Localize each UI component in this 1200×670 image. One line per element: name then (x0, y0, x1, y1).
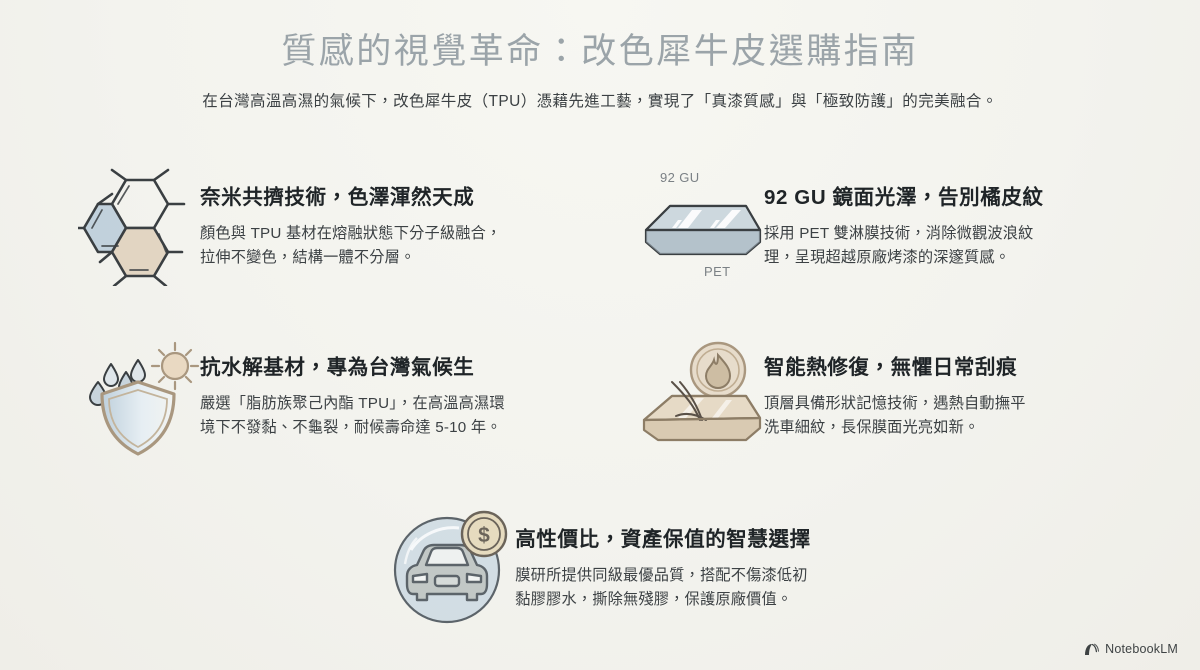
feature-card-gloss: 92 GU (600, 168, 1200, 338)
gloss-value-label: 92 GU (660, 170, 700, 185)
molecule-icon (78, 168, 200, 286)
feature-text: 智能熱修復，無懼日常刮痕 頂層具備形狀記憶技術，遇熱自動撫平 洗車細紋，長保膜面… (764, 338, 1026, 441)
header: 質感的視覺革命：改色犀牛皮選購指南 在台灣高溫高濕的氣候下，改色犀牛皮（TPU）… (0, 0, 1200, 113)
feature-body: 嚴選「脂肪族聚己內酯 TPU」，在高溫高濕環 境下不發黏、不龜裂，耐候壽命達 5… (200, 392, 505, 441)
feature-title: 高性價比，資產保值的智慧選擇 (515, 528, 810, 553)
feature-body: 頂層具備形狀記憶技術，遇熱自動撫平 洗車細紋，長保膜面光亮如新。 (764, 392, 1026, 441)
feature-text: 抗水解基材，專為台灣氣候生 嚴選「脂肪族聚己內酯 TPU」，在高溫高濕環 境下不… (200, 338, 505, 441)
page-title: 質感的視覺革命：改色犀牛皮選購指南 (0, 30, 1200, 74)
feature-body: 膜研所提供同級最優品質，搭配不傷漆低初 黏膠膠水，撕除無殘膠，保護原廠價值。 (515, 564, 810, 613)
infographic-poster: 質感的視覺革命：改色犀牛皮選購指南 在台灣高溫高濕的氣候下，改色犀牛皮（TPU）… (0, 0, 1200, 670)
feature-title: 智能熱修復，無懼日常刮痕 (764, 356, 1026, 381)
feature-card-hydrolysis: 抗水解基材，專為台灣氣候生 嚴選「脂肪族聚己內酯 TPU」，在高溫高濕環 境下不… (0, 338, 600, 503)
shield-water-sun-icon (78, 338, 200, 456)
page-subtitle: 在台灣高溫高濕的氣候下，改色犀牛皮（TPU）憑藉先進工藝，實現了「真漆質感」與「… (0, 90, 1200, 113)
feature-text: 92 GU 鏡面光澤，告別橘皮紋 採用 PET 雙淋膜技術，消除微觀波浪紋 理，… (764, 168, 1044, 271)
flame-slab-icon (642, 338, 764, 456)
feature-title: 奈米共擠技術，色澤渾然天成 (200, 186, 501, 211)
pet-label: PET (704, 264, 730, 279)
feature-body: 採用 PET 雙淋膜技術，消除微觀波浪紋 理，呈現超越原廠烤漆的深邃質感。 (764, 222, 1044, 271)
feature-title: 92 GU 鏡面光澤，告別橘皮紋 (764, 186, 1044, 211)
feature-text: 高性價比，資產保值的智慧選擇 膜研所提供同級最優品質，搭配不傷漆低初 黏膠膠水，… (515, 508, 810, 613)
notebooklm-watermark: NotebookLM (1084, 642, 1178, 656)
feature-title: 抗水解基材，專為台灣氣候生 (200, 356, 505, 381)
feature-card-value: $ 高性價比，資產保值的智慧選擇 膜研所提供同級最優品質，搭配不傷漆低初 黏膠膠… (389, 508, 810, 628)
feature-card-nano-extrusion: 奈米共擠技術，色澤渾然天成 顏色與 TPU 基材在熔融狀態下分子級融合， 拉伸不… (0, 168, 600, 338)
feature-card-self-healing: 智能熱修復，無懼日常刮痕 頂層具備形狀記憶技術，遇熱自動撫平 洗車細紋，長保膜面… (600, 338, 1200, 503)
feature-grid: 奈米共擠技術，色澤渾然天成 顏色與 TPU 基材在熔融狀態下分子級融合， 拉伸不… (0, 168, 1200, 503)
pet-slab-icon: 92 GU (642, 168, 764, 286)
feature-body: 顏色與 TPU 基材在熔融狀態下分子級融合， 拉伸不變色，結構一體不分層。 (200, 222, 501, 271)
feature-row-2: 抗水解基材，專為台灣氣候生 嚴選「脂肪族聚己內酯 TPU」，在高溫高濕環 境下不… (0, 338, 1200, 503)
notebooklm-label: NotebookLM (1105, 642, 1178, 656)
feature-row-1: 奈米共擠技術，色澤渾然天成 顏色與 TPU 基材在熔融狀態下分子級融合， 拉伸不… (0, 168, 1200, 338)
notebooklm-logo-icon (1084, 643, 1099, 656)
feature-text: 奈米共擠技術，色澤渾然天成 顏色與 TPU 基材在熔融狀態下分子級融合， 拉伸不… (200, 168, 501, 271)
feature-row-3: $ 高性價比，資產保值的智慧選擇 膜研所提供同級最優品質，搭配不傷漆低初 黏膠膠… (0, 508, 1200, 628)
svg-text:$: $ (478, 524, 490, 547)
car-coin-icon: $ (389, 508, 515, 628)
